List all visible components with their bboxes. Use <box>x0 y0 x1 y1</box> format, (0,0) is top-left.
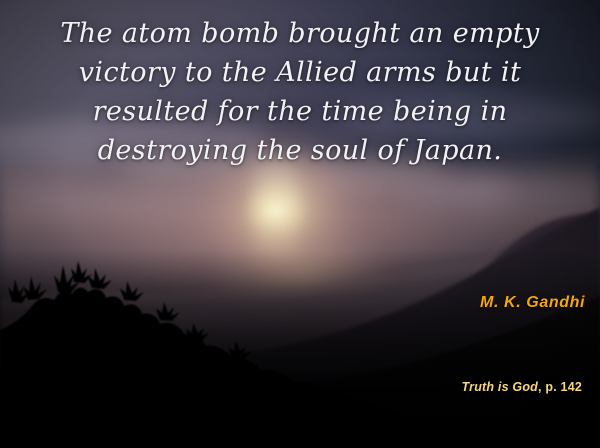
source-page: , p. 142 <box>538 380 582 394</box>
quote-source: Truth is God, p. 142 <box>0 380 582 394</box>
source-title: Truth is God <box>462 380 538 394</box>
quote-text: The atom bomb brought an empty victory t… <box>24 14 576 170</box>
quotation-poster: The atom bomb brought an empty victory t… <box>0 0 600 448</box>
quote-author: M. K. Gandhi <box>0 294 585 312</box>
